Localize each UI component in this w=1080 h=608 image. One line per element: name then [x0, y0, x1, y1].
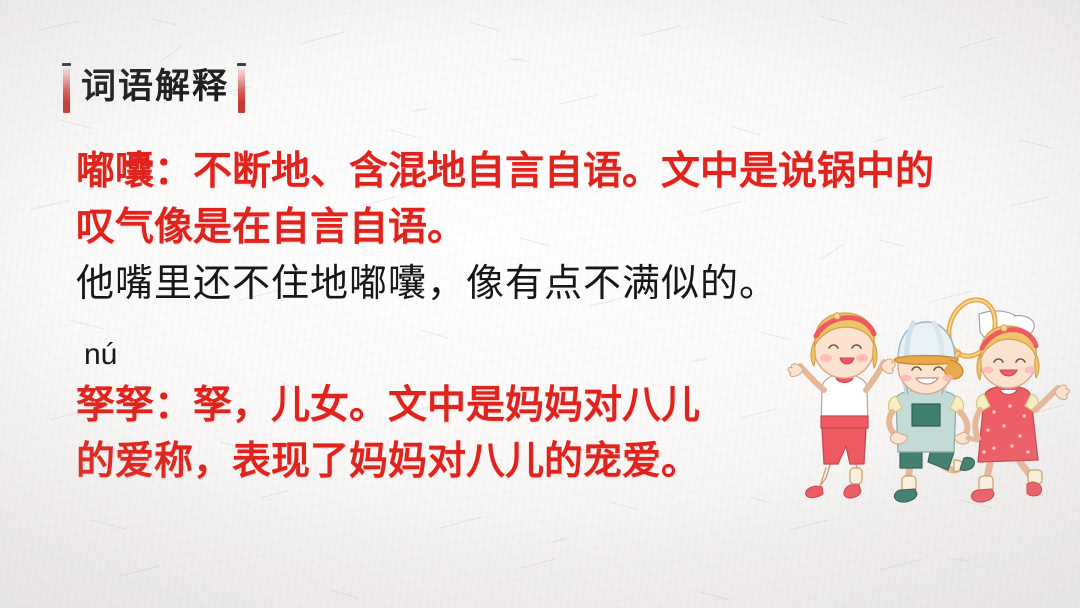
pinyin-annotation: nú	[84, 336, 117, 374]
slide-canvas: 词语解释 嘟囔：不断地、含混地自言自语。文中是说锅中的 叹气像是在自言自语。 他…	[0, 0, 1080, 608]
child-boy-with-cap	[889, 322, 975, 502]
three-children-illustration	[782, 296, 1080, 512]
example-sentence-text: 他嘴里还不住地嘟囔，像有点不满似的。	[76, 256, 778, 312]
definition-line: 的爱称，表现了妈妈对八儿的宠爱。	[76, 434, 700, 490]
definition-line: 孥孥：孥，儿女。文中是妈妈对八儿	[76, 378, 700, 434]
title-bracket-right-icon	[237, 61, 246, 113]
page-title-text: 词语解释	[71, 61, 237, 113]
definition-line: 嘟囔：不断地、含混地自言自语。文中是说锅中的	[76, 144, 934, 200]
example-sentence: 他嘴里还不住地嘟囔，像有点不满似的。	[76, 256, 778, 312]
definition-block-nunu: 孥孥：孥，儿女。文中是妈妈对八儿 的爱称，表现了妈妈对八儿的宠爱。	[76, 378, 700, 490]
child-girl-arms-raised	[788, 313, 895, 498]
page-title: 词语解释	[62, 61, 246, 113]
title-bracket-left-icon	[62, 61, 71, 113]
child-girl-red-dress	[968, 325, 1069, 502]
definition-line: 叹气像是在自言自语。	[76, 200, 934, 256]
definition-block-duonang: 嘟囔：不断地、含混地自言自语。文中是说锅中的 叹气像是在自言自语。	[76, 144, 934, 256]
